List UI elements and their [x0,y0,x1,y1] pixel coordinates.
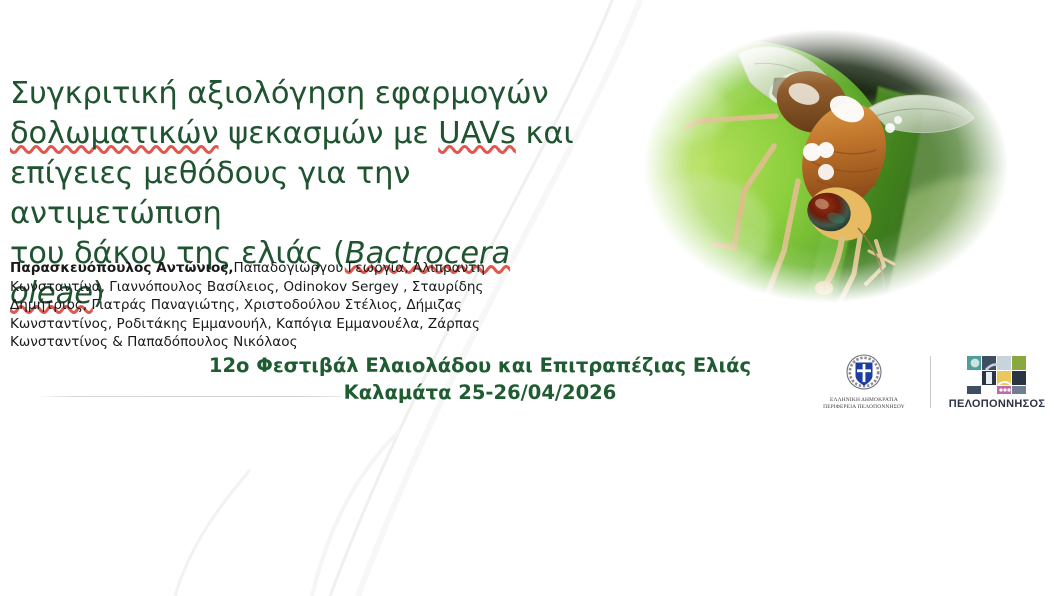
title-word-misspelled-1: δολωματικών [10,116,219,151]
event-location-dates: Καλαμάτα 25-26/04/2026 [150,379,810,406]
top-logo-row: ΕΛΛΗΝΙΚΗ ΔΗΜΟΚΡΑΤΙΑ ΠΕΡΙΦΕΡΕΙΑ ΠΕΛΟΠΟΝΝΗ… [812,348,1052,416]
olive-fruit-fly-illustration [626,16,1026,316]
perifereia-caption-line2: ΠΕΡΙΦΕΡΕΙΑ ΠΕΛΟΠΟΝΝΗΣΟΥ [812,404,916,411]
lead-author: Παρασκευόπουλος Αντώνιος, [10,260,234,276]
sponsor-logo-row: ΠΑΝΕΠΙΣΤΗΜΙΟ ΘΕΣΣΑΛΙΑΣ ΕΤΟΣ ΙΔΡΥΣΕΩΣ 198… [0,440,1057,596]
author-list: Παρασκευόπουλος Αντώνιος,Παπαδογιώργου Γ… [10,259,490,352]
logo-perifereia-peloponnisou: ΕΛΛΗΝΙΚΗ ΔΗΜΟΚΡΑΤΙΑ ΠΕΡΙΦΕΡΕΙΑ ΠΕΛΟΠΟΝΝΗ… [812,353,916,412]
greek-coat-of-arms-icon [842,353,886,395]
perifereia-caption-line1: ΕΛΛΗΝΙΚΗ ΔΗΜΟΚΡΑΤΙΑ [812,397,916,404]
logo-peloponnisos-tourism: ΠΕΛΟΠΟΝΝΗΣΟΣ [945,355,1049,410]
photo-oval-vignette [626,16,1026,316]
hero-photo-olive-fly [600,2,1052,332]
presentation-slide: Συγκριτική αξιολόγηση εφαρμογών δολωματι… [0,0,1057,596]
event-heading: 12ο Φεστιβάλ Ελαιολάδου και Επιτραπέζιας… [150,352,810,406]
title-word-uavs: UAVs [438,116,516,151]
event-name: 12ο Φεστιβάλ Ελαιολάδου και Επιτραπέζιας… [150,352,810,379]
peloponnisos-mosaic-icon [966,355,1028,395]
logo-separator [930,356,931,408]
title-line-2: δολωματικών ψεκασμών με UAVs και [10,114,600,154]
title-line-1: Συγκριτική αξιολόγηση εφαρμογών [10,74,600,114]
peloponnisos-label: ΠΕΛΟΠΟΝΝΗΣΟΣ [945,398,1049,410]
title-line-3: επίγειες μεθόδους για την αντιμετώπιση [10,154,600,234]
